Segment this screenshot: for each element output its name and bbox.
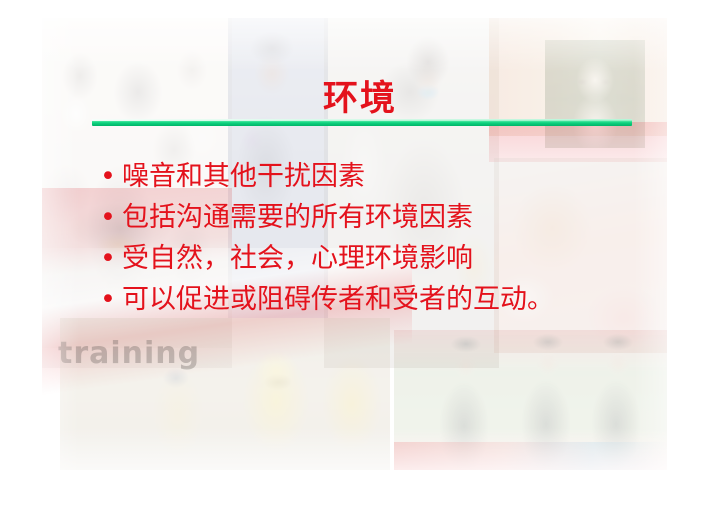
list-item: • 可以促进或阻碍传者和受者的互动。 xyxy=(100,283,680,316)
bullet-text: 噪音和其他干扰因素 xyxy=(122,160,680,193)
list-item: • 包括沟通需要的所有环境因素 xyxy=(100,201,680,234)
slide-title: 环境 xyxy=(0,78,720,120)
presentation-slide: training 环境 • 噪音和其他干扰因素 • 包括沟通需要的所有环境因素 … xyxy=(0,0,720,509)
flag-sweep-decoration xyxy=(394,442,667,470)
bullet-text: 包括沟通需要的所有环境因素 xyxy=(122,201,680,234)
bullet-list: • 噪音和其他干扰因素 • 包括沟通需要的所有环境因素 • 受自然，社会，心理环… xyxy=(100,160,680,324)
red-band-decoration xyxy=(489,122,667,162)
bullet-dot-icon: • xyxy=(100,283,122,316)
title-divider-line xyxy=(92,119,632,126)
bullet-dot-icon: • xyxy=(100,242,122,275)
bullet-text: 可以促进或阻碍传者和受者的互动。 xyxy=(122,283,680,316)
training-watermark-text: training xyxy=(58,336,200,371)
bullet-dot-icon: • xyxy=(100,201,122,234)
bullet-text: 受自然，社会，心理环境影响 xyxy=(122,242,680,275)
bullet-dot-icon: • xyxy=(100,160,122,193)
list-item: • 噪音和其他干扰因素 xyxy=(100,160,680,193)
list-item: • 受自然，社会，心理环境影响 xyxy=(100,242,680,275)
